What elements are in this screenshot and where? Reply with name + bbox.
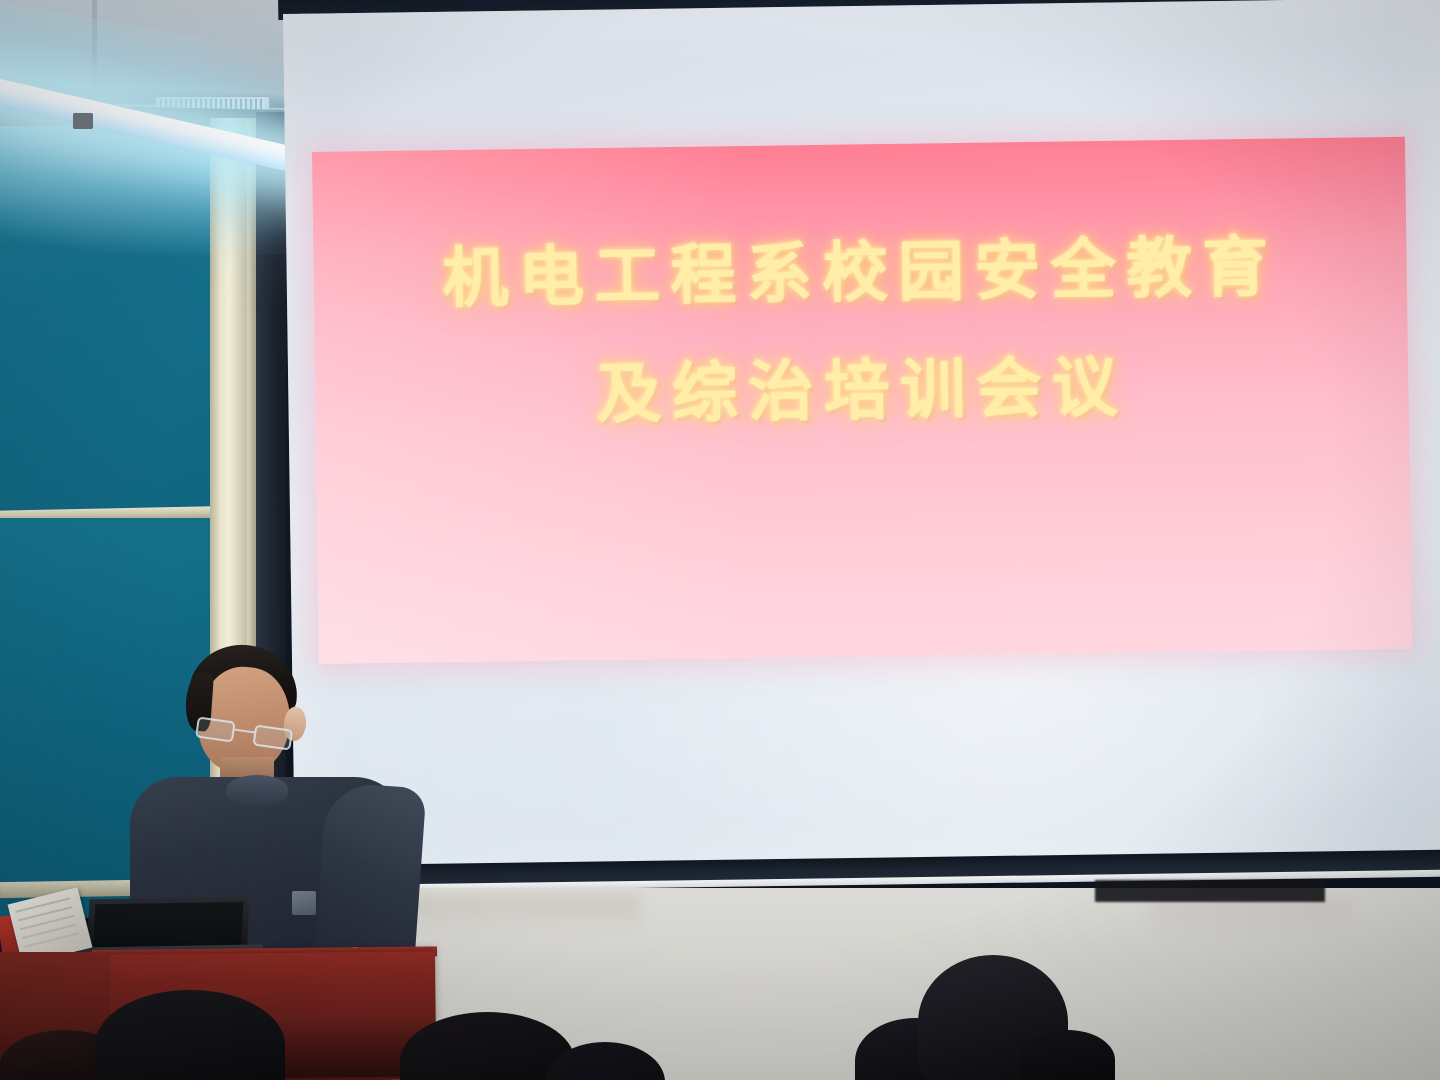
lens-left [195,716,236,742]
lens-right [253,724,294,750]
presentation-slide: 机电工程系校园安全教育 及综治培训会议 [312,137,1412,664]
glasses-bridge [234,729,254,734]
slide-title-block: 机电工程系校园安全教育 及综治培训会议 [312,137,1412,664]
jacket-logo [292,891,316,915]
ceiling-seam [92,0,97,96]
wall-stain-right [1150,900,1350,936]
slide-title-line-1: 机电工程系校园安全教育 [442,235,1279,313]
slide-title-line-2: 及综治培训会议 [595,355,1128,428]
wall-dark-patch [1095,880,1325,902]
classroom-photo: 机电工程系校园安全教育 及综治培训会议 [0,0,1440,1080]
presenter-collar [226,775,288,805]
light-bracket [73,113,93,129]
